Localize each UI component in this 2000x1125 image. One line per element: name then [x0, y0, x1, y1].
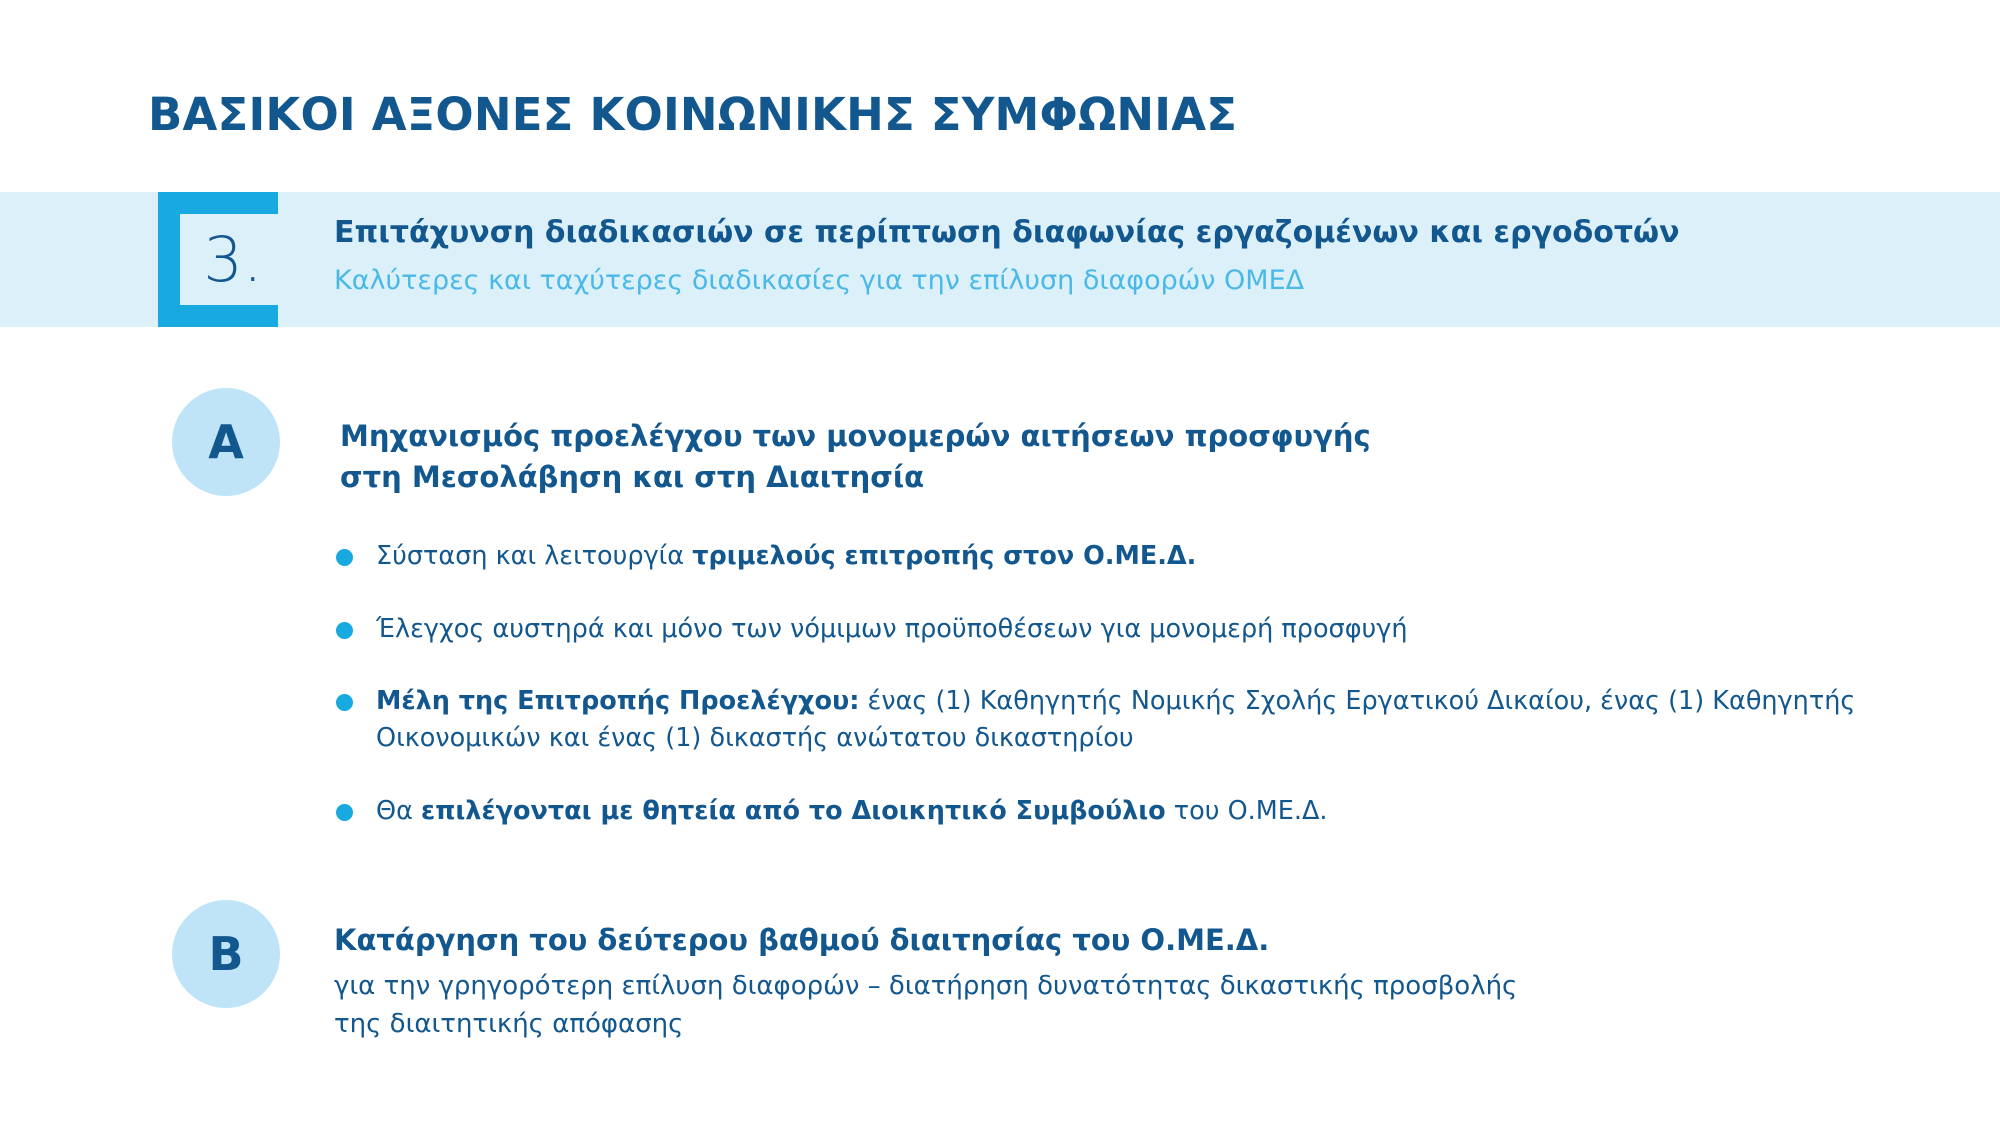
list-item-bold: Μέλη της Επιτροπής Προελέγχου:	[376, 686, 859, 716]
list-item-lead: Σύσταση και λειτουργία	[376, 541, 692, 571]
list-item-lead: Θα	[376, 796, 421, 826]
section-b-subheading: για την γρηγορότερη επίλυση διαφορών – δ…	[334, 968, 1517, 1043]
section-badge-b: B	[172, 900, 280, 1008]
list-item-text: Μέλη της Επιτροπής Προελέγχου: ένας (1) …	[376, 683, 1856, 756]
bullet-dot-icon	[336, 622, 353, 639]
list-item-text: Έλεγχος αυστηρά και μόνο των νόμιμων προ…	[376, 611, 1856, 648]
list-item-text: Σύσταση και λειτουργία τριμελούς επιτροπ…	[376, 538, 1856, 575]
bullet-dot-icon	[336, 804, 353, 821]
list-item: Θα επιλέγονται με θητεία από το Διοικητι…	[336, 793, 1856, 830]
bullet-dot-icon	[336, 694, 353, 711]
banner-text-block: Επιτάχυνση διαδικασιών σε περίπτωση διαφ…	[334, 214, 1894, 297]
section-a-heading: Μηχανισμός προελέγχου των μονομερών αιτή…	[340, 416, 1371, 498]
banner-subheading: Καλύτερες και ταχύτερες διαδικασίες για …	[334, 264, 1894, 298]
page-title: ΒΑΣΙΚΟΙ ΑΞΟΝΕΣ ΚΟΙΝΩΝΙΚΗΣ ΣΥΜΦΩΝΙΑΣ	[148, 88, 1237, 141]
section-a-bullet-list: Σύσταση και λειτουργία τριμελούς επιτροπ…	[336, 538, 1856, 830]
list-item: Μέλη της Επιτροπής Προελέγχου: ένας (1) …	[336, 683, 1856, 756]
list-item-trail: του Ο.ΜΕ.Δ.	[1166, 796, 1328, 826]
list-item: Έλεγχος αυστηρά και μόνο των νόμιμων προ…	[336, 611, 1856, 648]
bullet-dot-icon	[336, 549, 353, 566]
slide-canvas: ΒΑΣΙΚΟΙ ΑΞΟΝΕΣ ΚΟΙΝΩΝΙΚΗΣ ΣΥΜΦΩΝΙΑΣ 3. Ε…	[0, 0, 2000, 1125]
section-badge-a: A	[172, 388, 280, 496]
list-item-bold: τριμελούς επιτροπής στον Ο.ΜΕ.Δ.	[692, 541, 1196, 571]
list-item-text: Θα επιλέγονται με θητεία από το Διοικητι…	[376, 793, 1856, 830]
section-number-label: 3.	[190, 204, 276, 316]
section-number-badge: 3.	[158, 192, 278, 327]
banner-heading: Επιτάχυνση διαδικασιών σε περίπτωση διαφ…	[334, 214, 1894, 252]
section-b-heading: Κατάργηση του δεύτερου βαθμού διαιτησίας…	[334, 920, 1269, 961]
list-item-lead: Έλεγχος αυστηρά και μόνο των νόμιμων προ…	[376, 614, 1408, 644]
list-item-bold: επιλέγονται με θητεία από το Διοικητικό …	[421, 796, 1166, 826]
list-item: Σύσταση και λειτουργία τριμελούς επιτροπ…	[336, 538, 1856, 575]
